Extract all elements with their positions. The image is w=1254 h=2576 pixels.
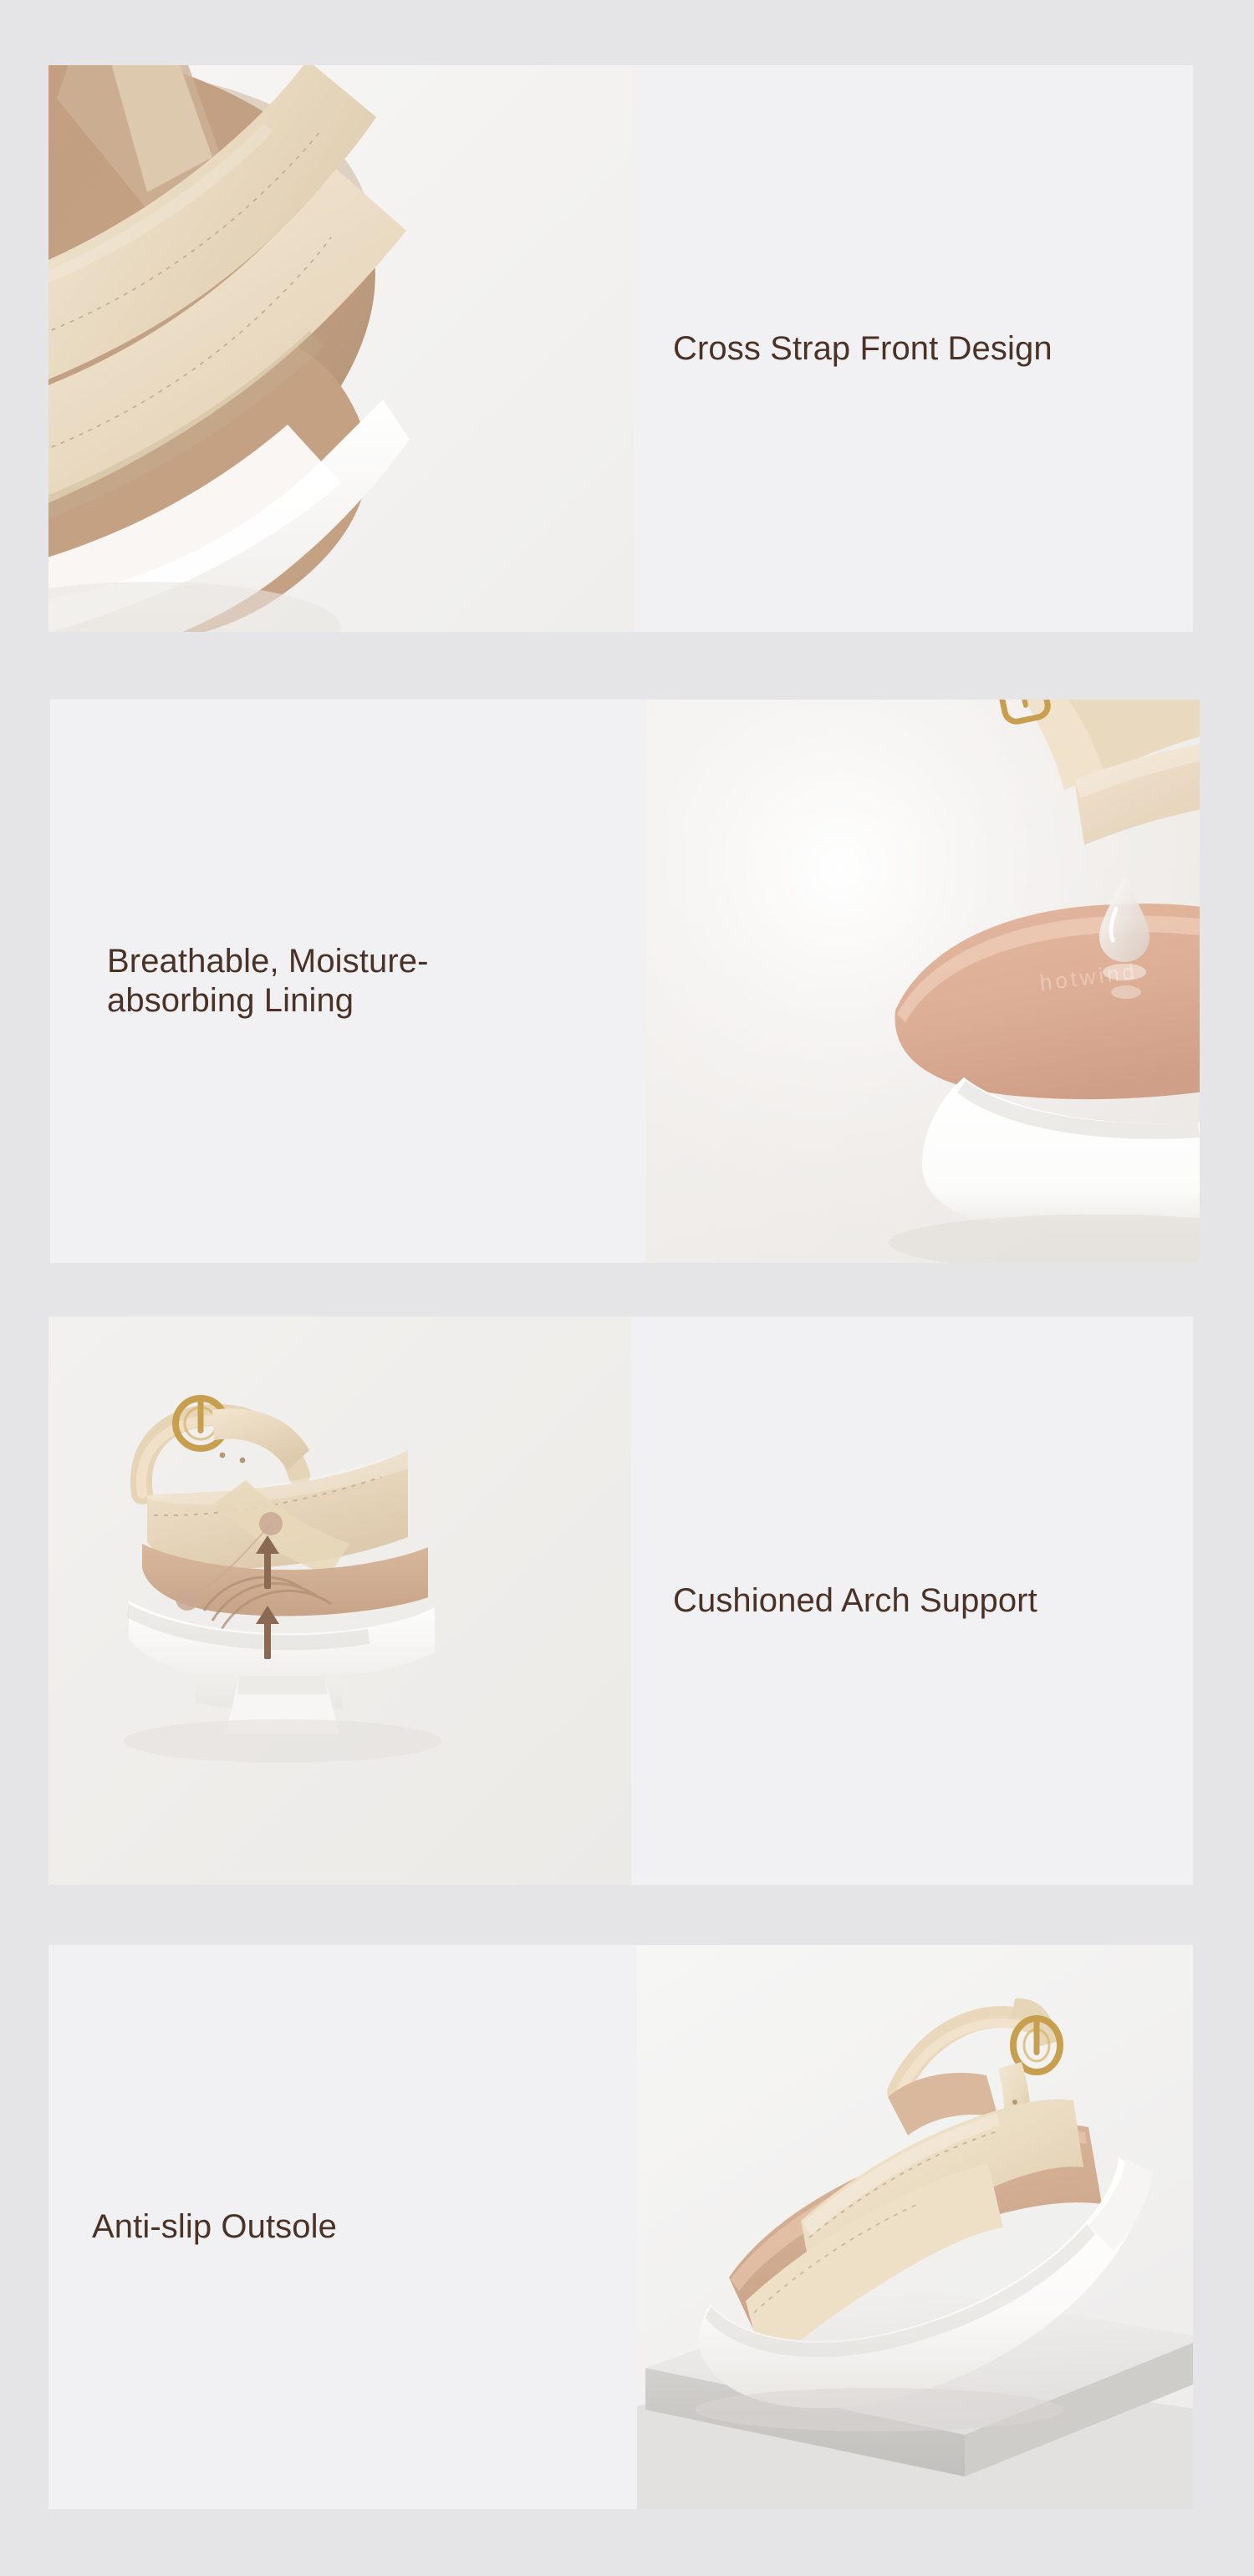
feature-panel-cross-strap-front-design: Cross Strap Front Design [48, 65, 1193, 632]
feature-image-cross-strap-front-design [48, 65, 634, 632]
feature-image-anti-slip-outsole [637, 1945, 1193, 2509]
product-feature-page: Cross Strap Front Design [0, 0, 1254, 2576]
feature-copy-cross-strap-front-design: Cross Strap Front Design [634, 65, 1193, 632]
feature-headline-cross-strap-front-design: Cross Strap Front Design [673, 329, 1053, 369]
cross-strap-closeup-illustration [48, 65, 634, 632]
feature-copy-cushioned-arch-support: Cushioned Arch Support [631, 1316, 1193, 1885]
feature-panel-cushioned-arch-support: Cushioned Arch Support [48, 1316, 1193, 1885]
anti-slip-outsole-illustration [637, 1945, 1193, 2509]
feature-image-cushioned-arch-support [48, 1316, 631, 1885]
feature-headline-cushioned-arch-support: Cushioned Arch Support [673, 1581, 1037, 1621]
feature-copy-anti-slip-outsole: Anti-slip Outsole [48, 1945, 637, 2509]
feature-headline-anti-slip-outsole: Anti-slip Outsole [92, 2207, 337, 2247]
feature-image-breathable-moisture-absorbing-lining: hotwind [646, 700, 1200, 1263]
feature-panel-anti-slip-outsole: Anti-slip Outsole [48, 1945, 1193, 2509]
arch-support-illustration [48, 1316, 631, 1885]
feature-copy-breathable-moisture-absorbing-lining: Breathable, Moisture- absorbing Lining [50, 700, 646, 1263]
feature-panel-breathable-moisture-absorbing-lining: hotwind Breathable, Moisture- absorbing … [50, 700, 1200, 1263]
feature-headline-breathable-moisture-absorbing-lining: Breathable, Moisture- absorbing Lining [107, 942, 429, 1021]
moisture-lining-illustration: hotwind [646, 700, 1200, 1263]
